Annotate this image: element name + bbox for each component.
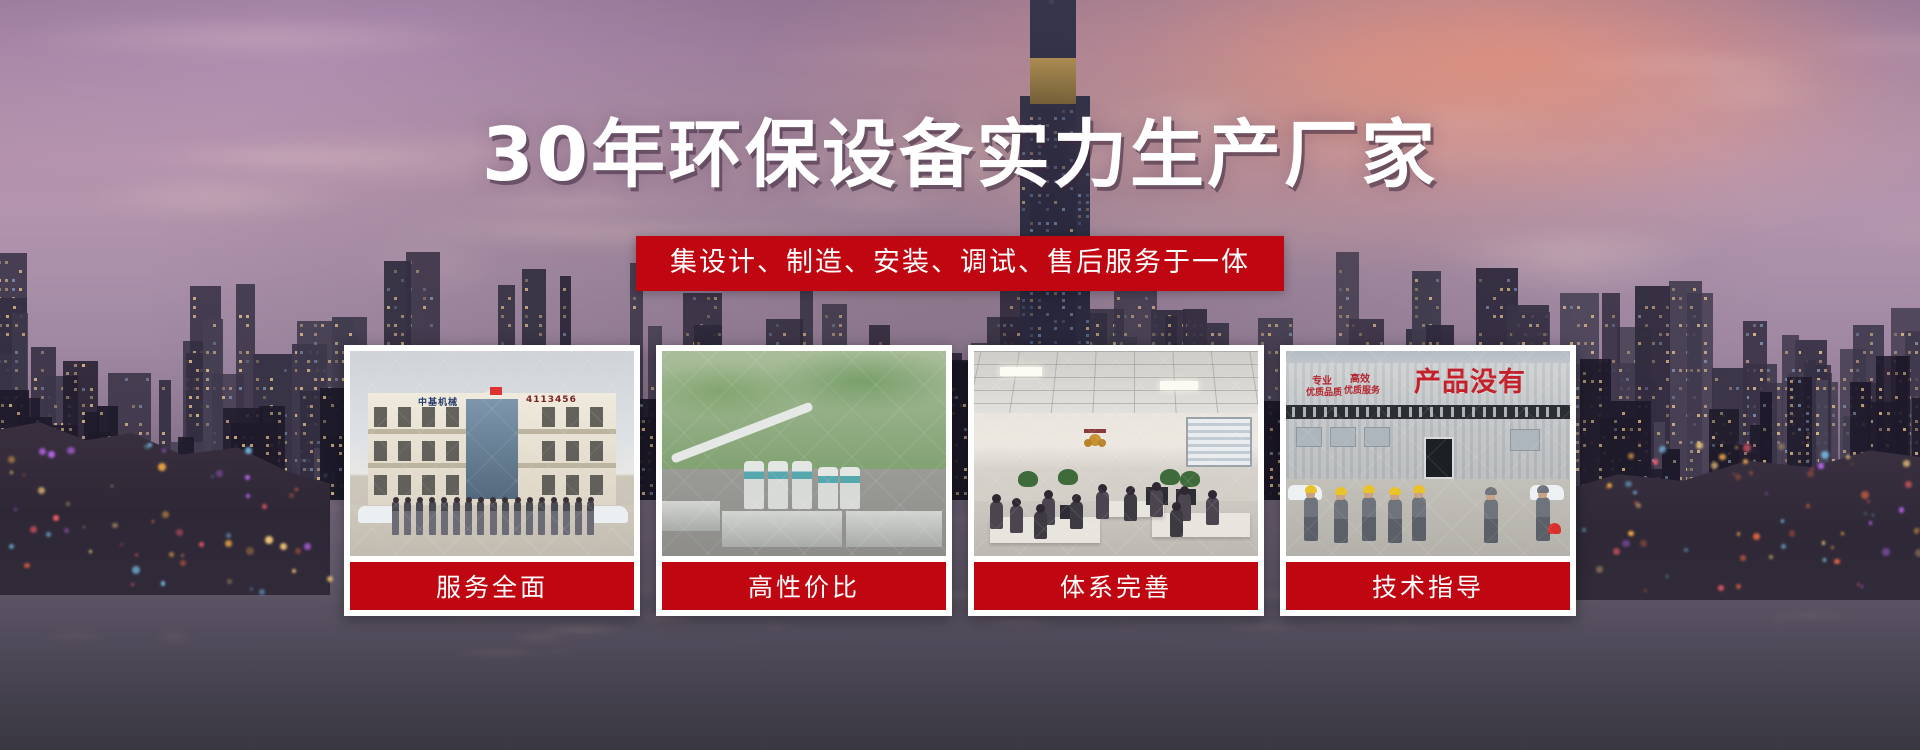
wall-decal-icon: [1080, 427, 1110, 453]
banner-subtitle-text: 集设计、制造、安装、调试、售后服务于一体: [670, 248, 1250, 278]
aerial-plant-photo: [662, 351, 946, 556]
feature-card-caption: 体系完善: [974, 562, 1258, 610]
company-headquarters-photo: 中基机械 4113456: [350, 351, 634, 556]
feature-card-caption: 技术指导: [1286, 562, 1570, 610]
factory-workers-photo: 产品没有 专业 优质品质 高效 优质服务: [1286, 351, 1570, 556]
banner-subtitle-bar: 集设计、制造、安装、调试、售后服务于一体: [636, 236, 1284, 291]
feature-card-caption: 服务全面: [350, 562, 634, 610]
feature-card-caption: 高性价比: [662, 562, 946, 610]
feature-card[interactable]: 体系完善: [968, 345, 1264, 616]
hero-banner: 30年环保设备实力生产厂家 集设计、制造、安装、调试、售后服务于一体 中基机械 …: [0, 0, 1920, 750]
factory-wall-slogan-3: 高效: [1350, 375, 1370, 386]
feature-card[interactable]: 产品没有 专业 优质品质 高效 优质服务: [1280, 345, 1576, 616]
office-interior-photo: [974, 351, 1258, 556]
feature-card[interactable]: 中基机械 4113456 服务全面: [344, 345, 640, 616]
banner-content: 30年环保设备实力生产厂家 集设计、制造、安装、调试、售后服务于一体 中基机械 …: [0, 0, 1920, 750]
feature-card[interactable]: 高性价比: [656, 345, 952, 616]
factory-wall-slogan-4: 优质服务: [1344, 387, 1380, 396]
banner-headline: 30年环保设备实力生产厂家: [0, 118, 1920, 192]
factory-wall-slogan-2: 优质品质: [1306, 389, 1342, 398]
factory-wall-headline: 产品没有: [1414, 369, 1526, 396]
feature-card-list: 中基机械 4113456 服务全面: [344, 345, 1576, 616]
building-phone-label: 4113456: [526, 395, 577, 405]
factory-wall-slogan-1: 专业: [1312, 377, 1332, 388]
